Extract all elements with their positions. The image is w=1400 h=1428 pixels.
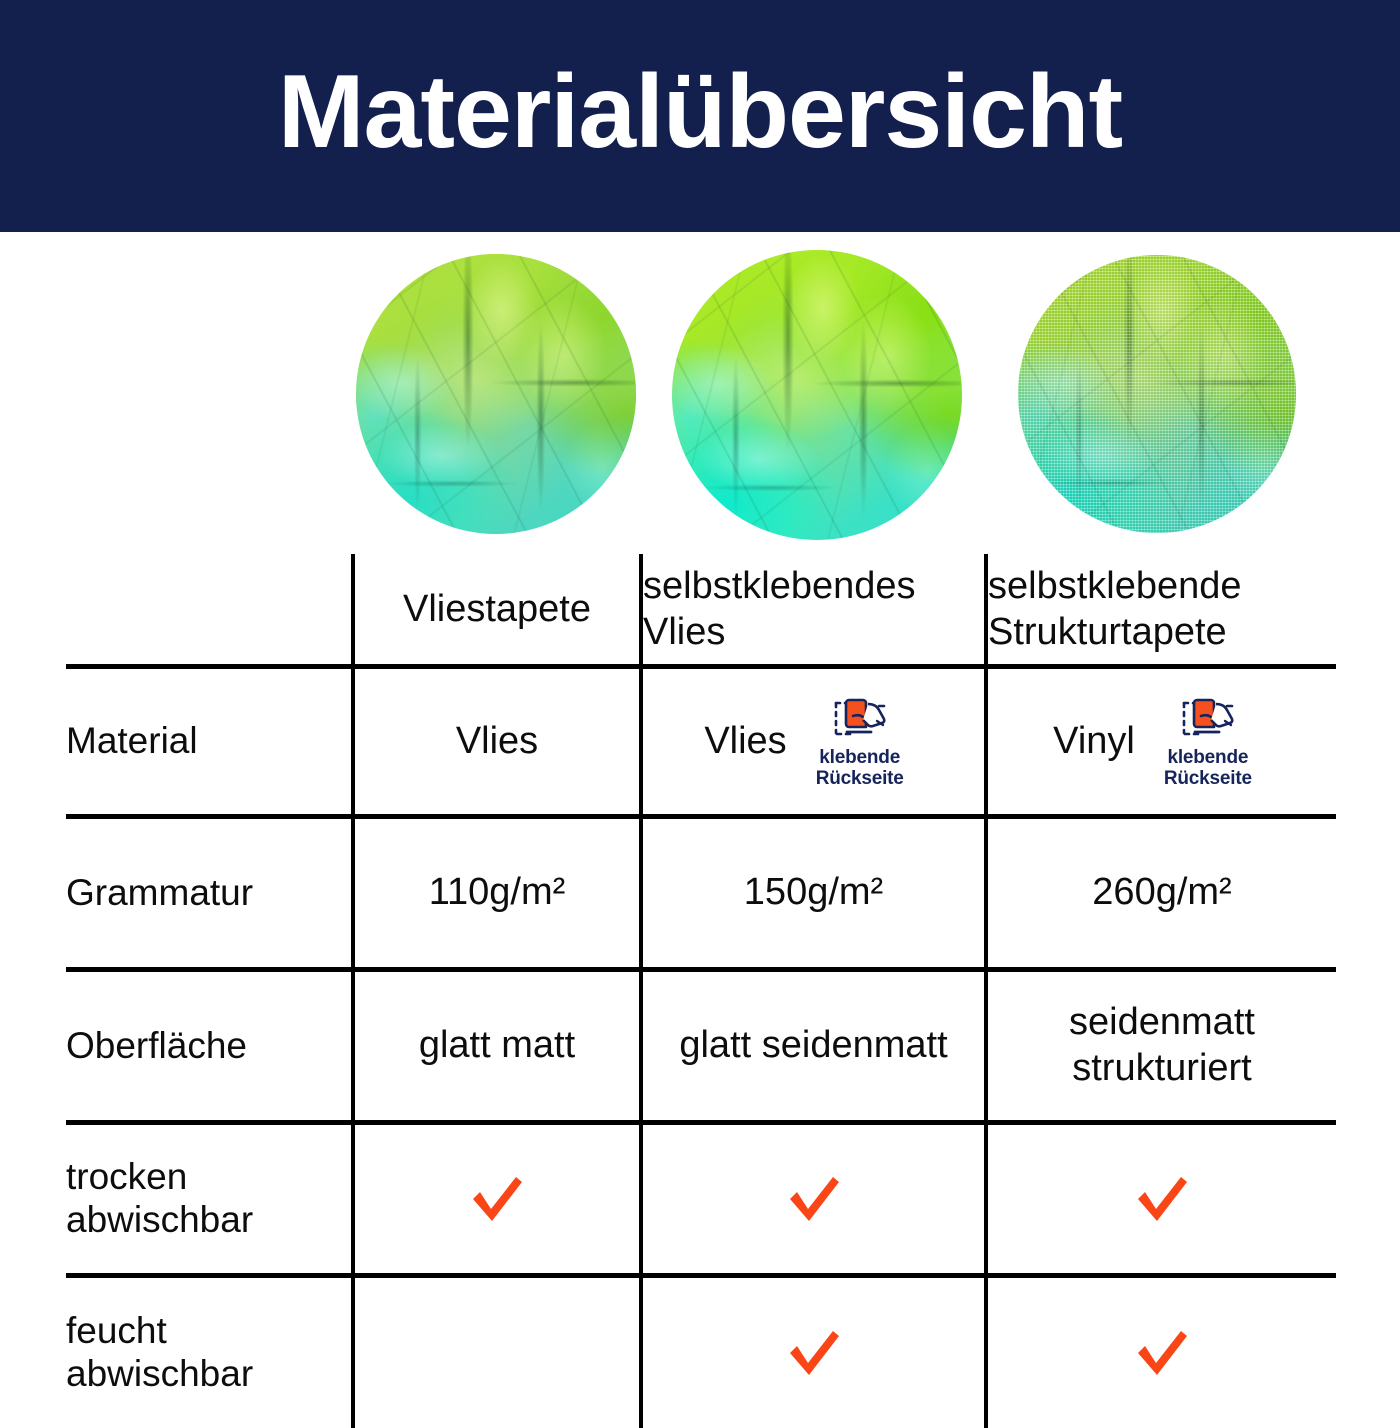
swatch-selbstklebendes-vlies [672,250,962,540]
swatch-selbstklebende-strukturtapete [1018,255,1296,533]
cell-trocken-selbstklebendes-vlies [641,1123,986,1276]
badge-line-2: Rückseite [816,768,904,789]
checkmark-icon [1131,1325,1193,1381]
table-row-grammatur: Grammatur 110g/m² 150g/m² 260g/m² [66,817,1336,970]
swatch-image-veins-detail [672,250,962,540]
table-row-trocken-abwischbar: trocken abwischbar [66,1123,1336,1276]
swatch-image-veins-detail [356,254,636,534]
cell-material-vliestapete: Vlies [353,667,641,817]
cell-value: Vlies [456,719,538,765]
table-header-row: Vliestapete selbstklebendes Vlies selbst… [66,554,1336,667]
row-label-material: Material [66,667,353,817]
cell-value: Vlies [704,719,786,765]
cell-value: Vinyl [1053,719,1135,765]
row-label-trocken-abwischbar: trocken abwischbar [66,1123,353,1276]
cell-grammatur-selbstklebendes-vlies: 150g/m² [641,817,986,970]
peel-sticker-hand-icon [1175,694,1241,744]
swatch-image-woven-texture [1018,255,1296,533]
checkmark-icon [783,1171,845,1227]
cell-feucht-vliestapete [353,1276,641,1428]
badge-klebende-rueckseite: klebende Rückseite [797,694,923,790]
sticker-corner-shape [1194,700,1214,727]
row-label-feucht-abwischbar: feucht abwischbar [66,1276,353,1428]
table-row-oberflaeche: Oberfläche glatt matt glatt seidenmatt s… [66,970,1336,1123]
page-title: Materialübersicht [278,60,1122,164]
material-swatch-row [0,236,1400,554]
checkmark-icon [466,1171,528,1227]
sticker-corner-shape [846,700,866,727]
cell-trocken-vliestapete [353,1123,641,1276]
cell-grammatur-selbstklebende-strukturtapete: 260g/m² [986,817,1336,970]
column-header-vliestapete: Vliestapete [353,554,641,667]
page-header: Materialübersicht [0,0,1400,232]
row-label-grammatur: Grammatur [66,817,353,970]
cell-material-selbstklebendes-vlies: Vlies [641,667,986,817]
table-row-material: Material Vlies Vlies [66,667,1336,817]
cell-trocken-selbstklebende-strukturtapete [986,1123,1336,1276]
badge-line-2: Rückseite [1164,768,1252,789]
peel-sticker-hand-icon [827,694,893,744]
material-comparison-table: Vliestapete selbstklebendes Vlies selbst… [66,554,1336,1428]
swatch-vliestapete [356,254,636,534]
cell-feucht-selbstklebendes-vlies [641,1276,986,1428]
row-label-oberflaeche: Oberfläche [66,970,353,1123]
cell-oberflaeche-vliestapete: glatt matt [353,970,641,1123]
column-header-selbstklebende-strukturtapete: selbstklebende Strukturtapete [986,554,1336,667]
badge-text: klebende Rückseite [816,747,904,790]
checkmark-icon [783,1325,845,1381]
cell-oberflaeche-selbstklebende-strukturtapete: seidenmatt strukturiert [986,970,1336,1123]
badge-line-1: klebende [819,747,900,768]
column-header-selbstklebendes-vlies: selbstklebendes Vlies [641,554,986,667]
cell-grammatur-vliestapete: 110g/m² [353,817,641,970]
checkmark-icon [1131,1171,1193,1227]
cell-oberflaeche-selbstklebendes-vlies: glatt seidenmatt [641,970,986,1123]
table-header-blank [66,554,353,667]
cell-feucht-selbstklebende-strukturtapete [986,1276,1336,1428]
badge-text: klebende Rückseite [1164,747,1252,790]
badge-line-1: klebende [1167,747,1248,768]
cell-material-selbstklebende-strukturtapete: Vinyl [986,667,1336,817]
badge-klebende-rueckseite: klebende Rückseite [1145,694,1271,790]
table-row-feucht-abwischbar: feucht abwischbar [66,1276,1336,1428]
